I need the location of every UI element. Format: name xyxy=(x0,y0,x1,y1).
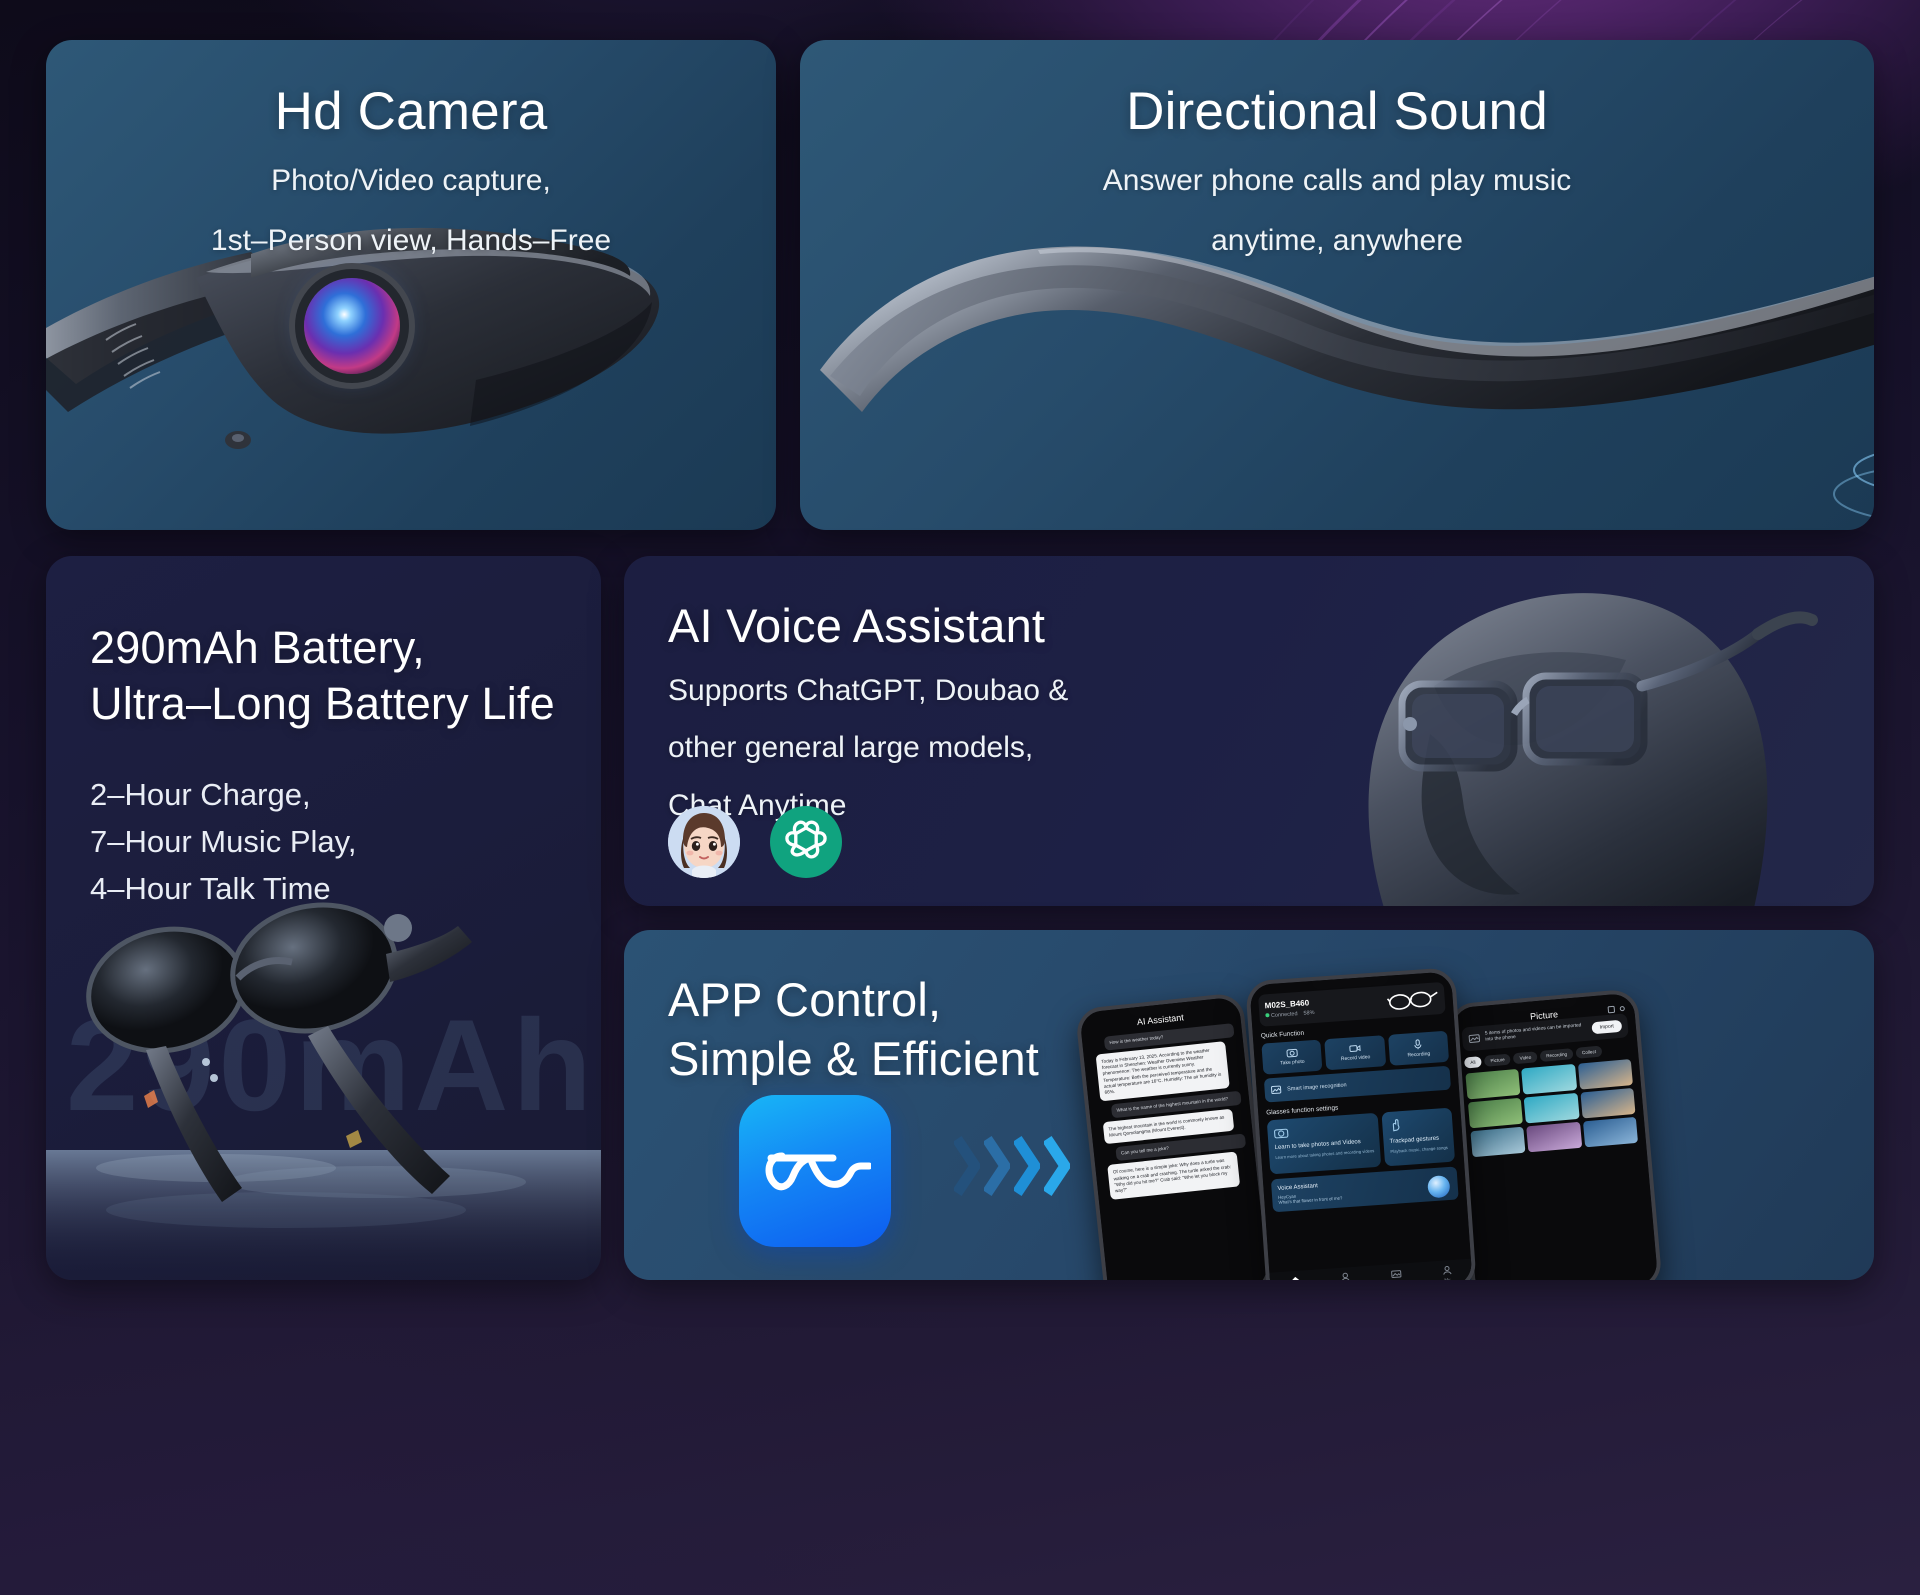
gallery-thumbnail[interactable] xyxy=(1583,1117,1638,1148)
app-text-block: APP Control, Simple & Efficient xyxy=(668,970,1039,1088)
filter-chip-all[interactable]: All xyxy=(1464,1057,1482,1069)
import-photos-icon xyxy=(1468,1033,1481,1044)
sound-waves-icon xyxy=(1830,390,1874,525)
ai-subtitle-line1: Supports ChatGPT, Doubao & xyxy=(668,671,1068,711)
openai-flower-glyph xyxy=(781,817,831,867)
quick-action-record-video[interactable]: Record video xyxy=(1325,1035,1386,1070)
nav-label: My xyxy=(1444,1277,1450,1280)
picture-gallery-screen: Picture xyxy=(1452,993,1659,1280)
image-scan-icon xyxy=(1270,1084,1282,1095)
card-hd-camera: Hd Camera Photo/Video capture, 1st–Perso… xyxy=(46,40,776,530)
hd-camera-text-block: Hd Camera Photo/Video capture, 1st–Perso… xyxy=(46,82,776,261)
hand-gesture-icon xyxy=(1388,1118,1403,1133)
nav-item-home[interactable]: Home xyxy=(1289,1275,1302,1280)
phone-mockup-ai-assistant: AI Assistant How is the weather today? T… xyxy=(1075,992,1273,1280)
battery-bullet-item: 7–Hour Music Play, xyxy=(90,818,555,865)
gallery-thumbnail[interactable] xyxy=(1468,1098,1523,1129)
battery-bullet-item: 2–Hour Charge, xyxy=(90,771,555,818)
ai-title: AI Voice Assistant xyxy=(668,600,1068,653)
directional-sound-title: Directional Sound xyxy=(800,82,1874,141)
profile-icon xyxy=(1441,1264,1453,1275)
ai-icon xyxy=(1340,1272,1352,1280)
settings-tile-title: Trackpad gestures xyxy=(1390,1135,1448,1145)
connected-dot-icon xyxy=(1265,1013,1269,1017)
battery-bullet-item: 4–Hour Talk Time xyxy=(90,865,555,912)
ripple-rings-icon xyxy=(1830,390,1874,520)
quick-action-label: Record video xyxy=(1330,1053,1382,1063)
card-ai-voice-assistant: AI Voice Assistant Supports ChatGPT, Dou… xyxy=(624,556,1874,906)
smart-action-label: Smart image recognition xyxy=(1287,1082,1347,1092)
hd-camera-title: Hd Camera xyxy=(46,82,776,141)
feature-card-grid: Hd Camera Photo/Video capture, 1st–Perso… xyxy=(0,0,1920,1595)
gallery-thumbnail[interactable] xyxy=(1521,1064,1576,1095)
settings-tile-learn-photos[interactable]: Learn to take photos and Videos Learn mo… xyxy=(1267,1113,1382,1175)
glasses-outline-glyph xyxy=(759,1136,871,1206)
ai-assistant-screen: AI Assistant How is the weather today? T… xyxy=(1079,996,1269,1280)
battery-product-art xyxy=(46,850,601,1280)
voice-assistant-card[interactable]: Voice Assistant HeyCyan What's that flow… xyxy=(1271,1166,1459,1212)
camera-lens-icon xyxy=(304,278,400,374)
glasses-app-icon[interactable] xyxy=(739,1095,891,1247)
nav-item-ai[interactable]: AI xyxy=(1340,1272,1352,1280)
chevron-right-icon xyxy=(1014,1135,1040,1197)
hd-camera-subtitle-line2: 1st–Person view, Hands–Free xyxy=(46,221,776,261)
card-app-control: APP Control, Simple & Efficient xyxy=(624,930,1874,1280)
device-home-screen: M02S_B460 Connected 58% xyxy=(1249,971,1472,1280)
ai-partner-icons xyxy=(668,806,842,878)
doubao-avatar-icon[interactable] xyxy=(668,806,740,878)
battery-text-block: 290mAh Battery, Ultra–Long Battery Life … xyxy=(90,620,555,912)
gallery-thumbnail[interactable] xyxy=(1578,1060,1633,1091)
battery-title-line1: 290mAh Battery, xyxy=(90,620,555,676)
app-phone-mockups: AI Assistant How is the weather today? T… xyxy=(1088,956,1848,1280)
battery-title-line2: Ultra–Long Battery Life xyxy=(90,676,555,732)
gallery-thumbnail-grid xyxy=(1465,1060,1638,1158)
quick-action-label: Take photo xyxy=(1267,1058,1319,1068)
directional-sound-text-block: Directional Sound Answer phone calls and… xyxy=(800,82,1874,261)
folded-glasses-illustration xyxy=(46,850,601,1280)
filter-chip-recording[interactable]: Recording xyxy=(1540,1049,1574,1063)
camera-icon xyxy=(1285,1047,1298,1058)
camera-large-icon xyxy=(1273,1126,1290,1139)
settings-tile-row: Learn to take photos and Videos Learn mo… xyxy=(1267,1108,1456,1175)
gear-icon[interactable] xyxy=(1618,1004,1627,1013)
card-battery: 290mAh xyxy=(46,556,601,1280)
settings-tile-trackpad[interactable]: Trackpad gestures Playback music, change… xyxy=(1382,1108,1455,1167)
video-icon xyxy=(1349,1043,1362,1054)
mannequin-head-illustration xyxy=(1234,556,1874,906)
import-button[interactable]: Import xyxy=(1591,1020,1622,1035)
card-directional-sound: Directional Sound Answer phone calls and… xyxy=(800,40,1874,530)
ai-text-block: AI Voice Assistant Supports ChatGPT, Dou… xyxy=(668,600,1068,825)
device-status: Connected xyxy=(1271,1011,1298,1019)
quick-action-label: Recording xyxy=(1393,1050,1445,1060)
ai-subtitle-line2: other general large models, xyxy=(668,728,1068,768)
flow-arrows xyxy=(954,1135,1070,1197)
gallery-thumbnail[interactable] xyxy=(1580,1088,1635,1119)
chevron-right-icon xyxy=(984,1135,1010,1197)
app-title-line1: APP Control, xyxy=(668,970,1039,1029)
chat-bubble-bot: Today is February 13, 2025. According to… xyxy=(1096,1041,1230,1101)
bottom-nav-bar: Home AI xyxy=(1269,1259,1472,1280)
album-icon xyxy=(1390,1268,1402,1279)
nav-item-album[interactable]: Album xyxy=(1389,1268,1403,1280)
app-title-line2: Simple & Efficient xyxy=(668,1029,1039,1088)
filter-chip-video[interactable]: Video xyxy=(1513,1052,1538,1065)
chevron-right-icon xyxy=(954,1135,980,1197)
microphone-icon xyxy=(1413,1038,1424,1050)
device-battery: 58% xyxy=(1303,1010,1314,1017)
gallery-thumbnail[interactable] xyxy=(1524,1093,1579,1124)
hd-camera-subtitle-line1: Photo/Video capture, xyxy=(46,161,776,201)
voice-orb-icon xyxy=(1427,1175,1450,1198)
device-status-card: M02S_B460 Connected 58% xyxy=(1258,982,1446,1027)
ai-head-model-art xyxy=(1234,556,1874,906)
filter-chip-collect[interactable]: Collect xyxy=(1576,1046,1603,1059)
glasses-thumbnail-icon xyxy=(1386,988,1439,1012)
import-banner-text: 5 items of photos and videos can be impo… xyxy=(1485,1023,1588,1044)
chevron-right-icon xyxy=(1044,1135,1070,1197)
device-name: M02S_B460 xyxy=(1264,998,1314,1010)
nav-item-my[interactable]: My xyxy=(1441,1264,1453,1280)
battery-bullet-list: 2–Hour Charge, 7–Hour Music Play, 4–Hour… xyxy=(90,771,555,912)
gallery-thumbnail[interactable] xyxy=(1465,1069,1520,1100)
phone-mockup-device-home: M02S_B460 Connected 58% xyxy=(1245,967,1477,1280)
gallery-thumbnail[interactable] xyxy=(1527,1122,1582,1153)
device-meta: Connected 58% xyxy=(1265,1010,1314,1019)
phone-mockup-picture-gallery: Picture xyxy=(1447,988,1662,1280)
select-icon[interactable] xyxy=(1607,1005,1616,1014)
home-icon xyxy=(1290,1275,1302,1280)
directional-sound-subtitle-line1: Answer phone calls and play music xyxy=(800,161,1874,201)
gallery-thumbnail[interactable] xyxy=(1470,1127,1525,1158)
quick-action-recording[interactable]: Recording xyxy=(1388,1031,1449,1066)
settings-tile-desc: Playback music, change songs xyxy=(1390,1145,1448,1154)
directional-sound-subtitle-line2: anytime, anywhere xyxy=(800,221,1874,261)
doubao-avatar-glyph xyxy=(668,806,740,878)
filter-chip-picture[interactable]: Picture xyxy=(1484,1054,1511,1067)
chatgpt-logo-icon[interactable] xyxy=(770,806,842,878)
quick-action-take-photo[interactable]: Take photo xyxy=(1261,1040,1322,1075)
